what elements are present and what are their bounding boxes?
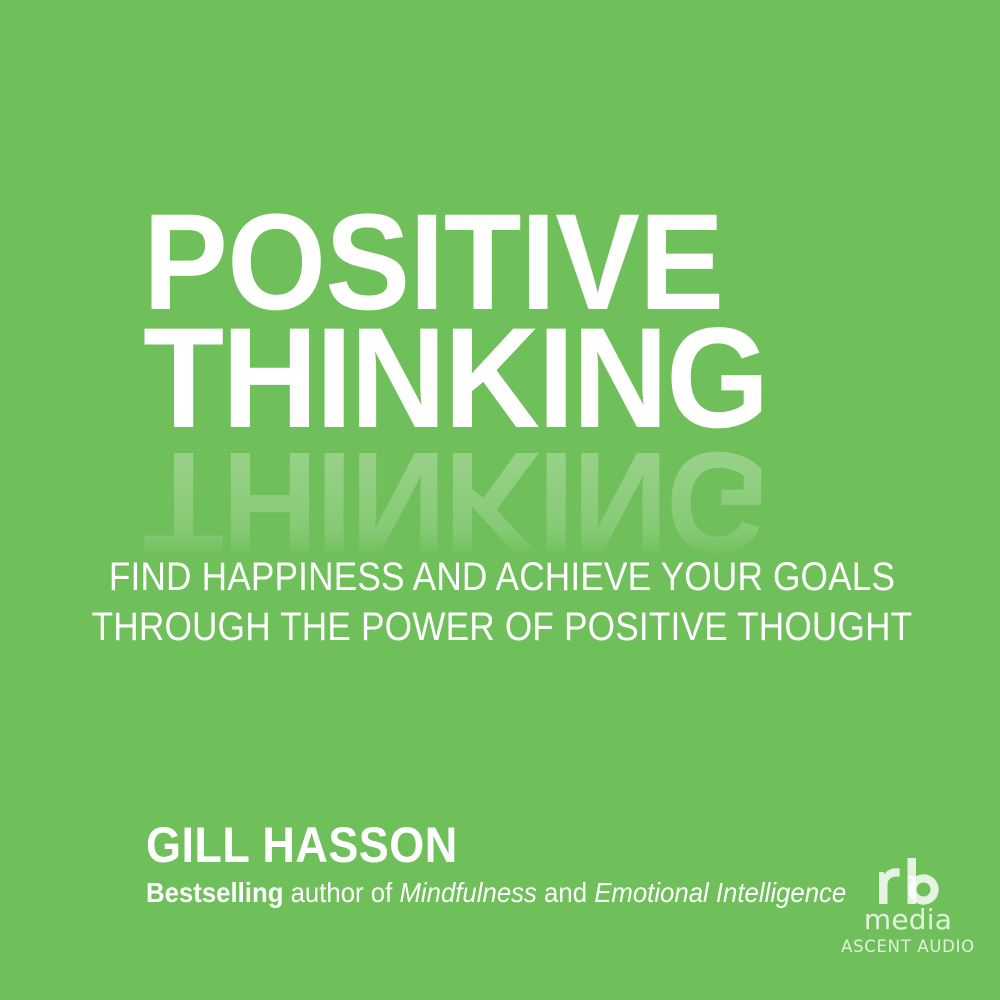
audiobook-cover: POSITIVE THINKING THINKING FIND HAPPINES… — [0, 0, 1000, 1000]
subtitle-line-2: THROUGH THE POWER OF POSITIVE THOUGHT — [62, 602, 942, 652]
byline-title-mindfulness: Mindfulness — [399, 877, 536, 908]
title-line-thinking: THINKING — [143, 320, 813, 439]
book-title: POSITIVE THINKING — [143, 206, 863, 438]
publisher-name: media — [838, 905, 978, 934]
title-reflection-text: THINKING — [143, 448, 767, 558]
author-name: GILL HASSON — [146, 820, 794, 870]
title-reflection: THINKING — [143, 448, 863, 558]
author-byline: Bestselling author of Mindfulness and Em… — [146, 878, 808, 909]
author-block: GILL HASSON Bestselling author of Mindfu… — [146, 820, 866, 909]
rb-media-logo-icon — [838, 858, 978, 906]
publisher-imprint: ASCENT AUDIO — [838, 939, 978, 956]
byline-regular-2: and — [537, 877, 594, 908]
publisher-logo: media ASCENT AUDIO — [838, 858, 978, 956]
byline-title-emotional-intelligence: Emotional Intelligence — [594, 877, 846, 908]
book-subtitle: FIND HAPPINESS AND ACHIEVE YOUR GOALS TH… — [0, 552, 1000, 653]
byline-bold-lead: Bestselling — [146, 877, 283, 908]
subtitle-line-1: FIND HAPPINESS AND ACHIEVE YOUR GOALS — [62, 552, 942, 602]
byline-regular-1: author of — [283, 877, 399, 908]
